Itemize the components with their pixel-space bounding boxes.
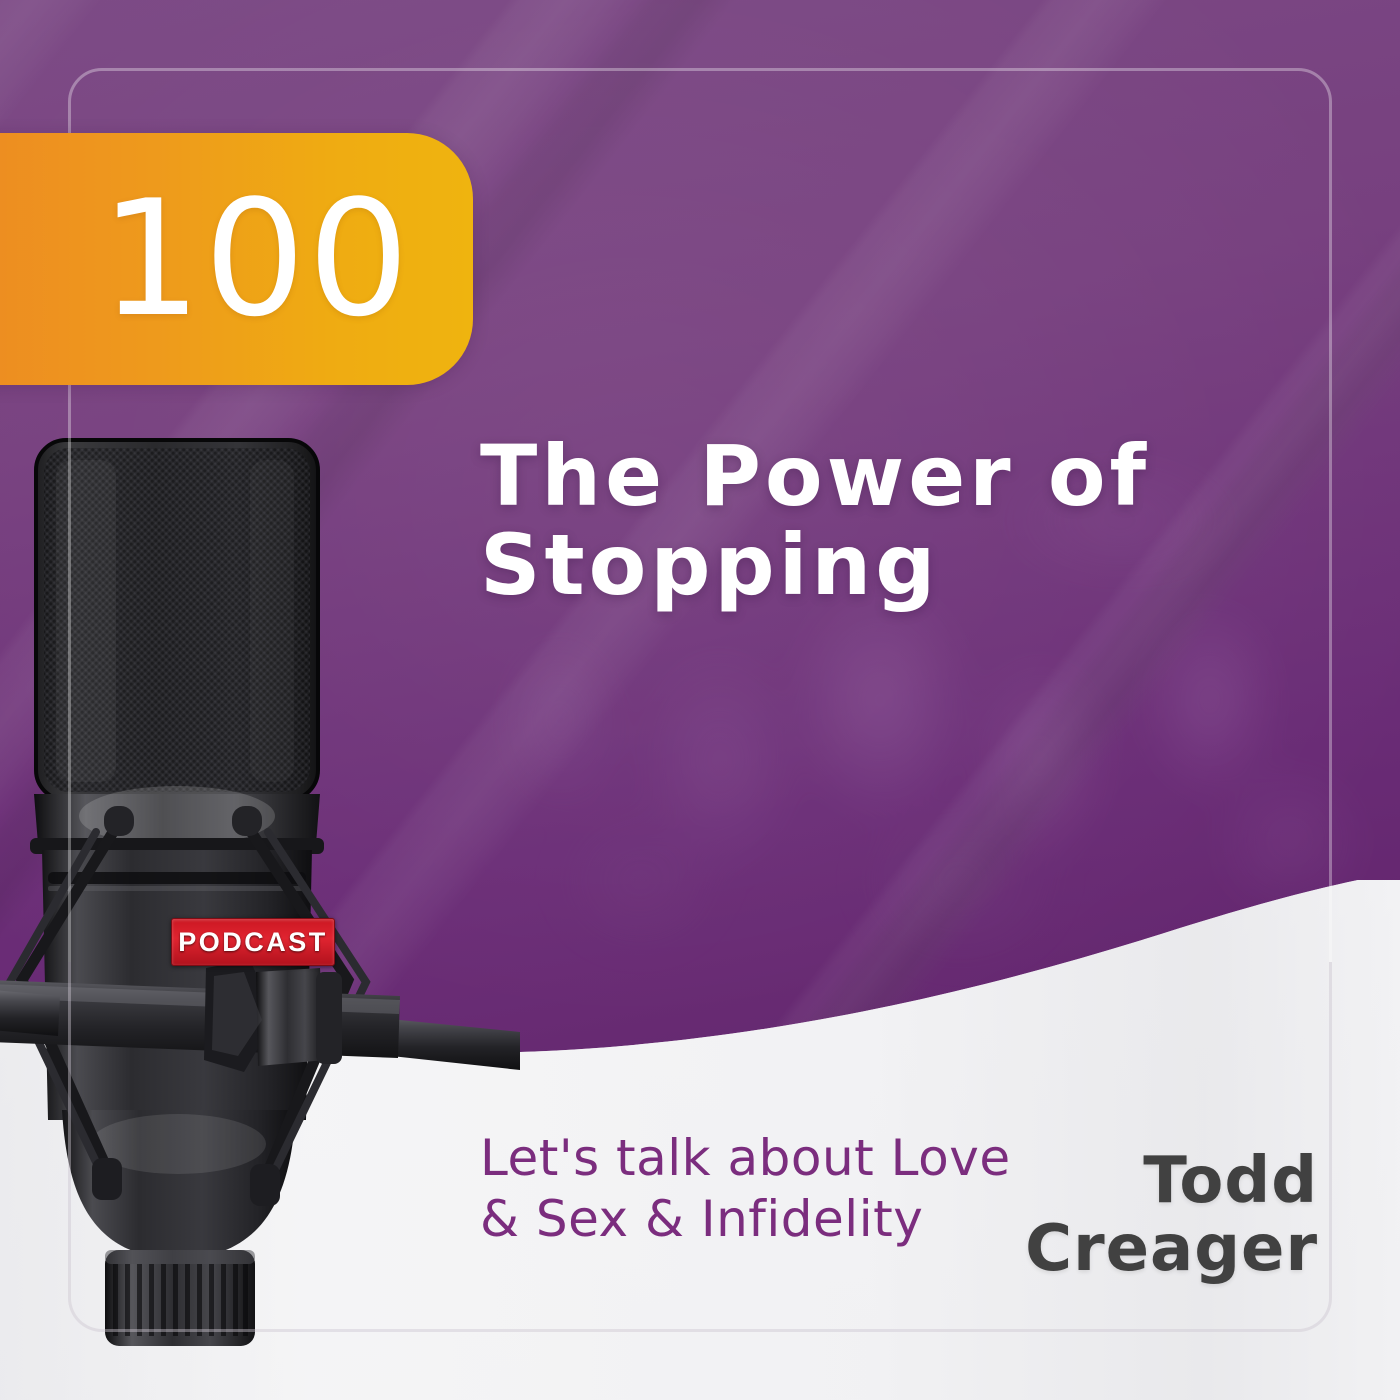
boom-connector <box>204 960 342 1072</box>
mic-threaded-collar <box>105 1250 255 1346</box>
mic-grille <box>36 440 318 800</box>
host-name: Todd Creager <box>858 1148 1318 1284</box>
podcast-cover-art: PODCAST 100 The Power of Stopping Let's … <box>0 0 1400 1400</box>
boom-arm-left-stub <box>0 988 60 1036</box>
host-last-name: Creager <box>858 1216 1318 1284</box>
host-first-name: Todd <box>858 1148 1318 1216</box>
microphone-icon <box>0 420 520 1380</box>
episode-number-badge: 100 <box>0 133 473 385</box>
podcast-badge-text: PODCAST <box>178 927 328 958</box>
podcast-badge-label: PODCAST <box>171 918 335 966</box>
episode-number: 100 <box>100 179 411 339</box>
episode-title: The Power of Stopping <box>480 432 1180 610</box>
